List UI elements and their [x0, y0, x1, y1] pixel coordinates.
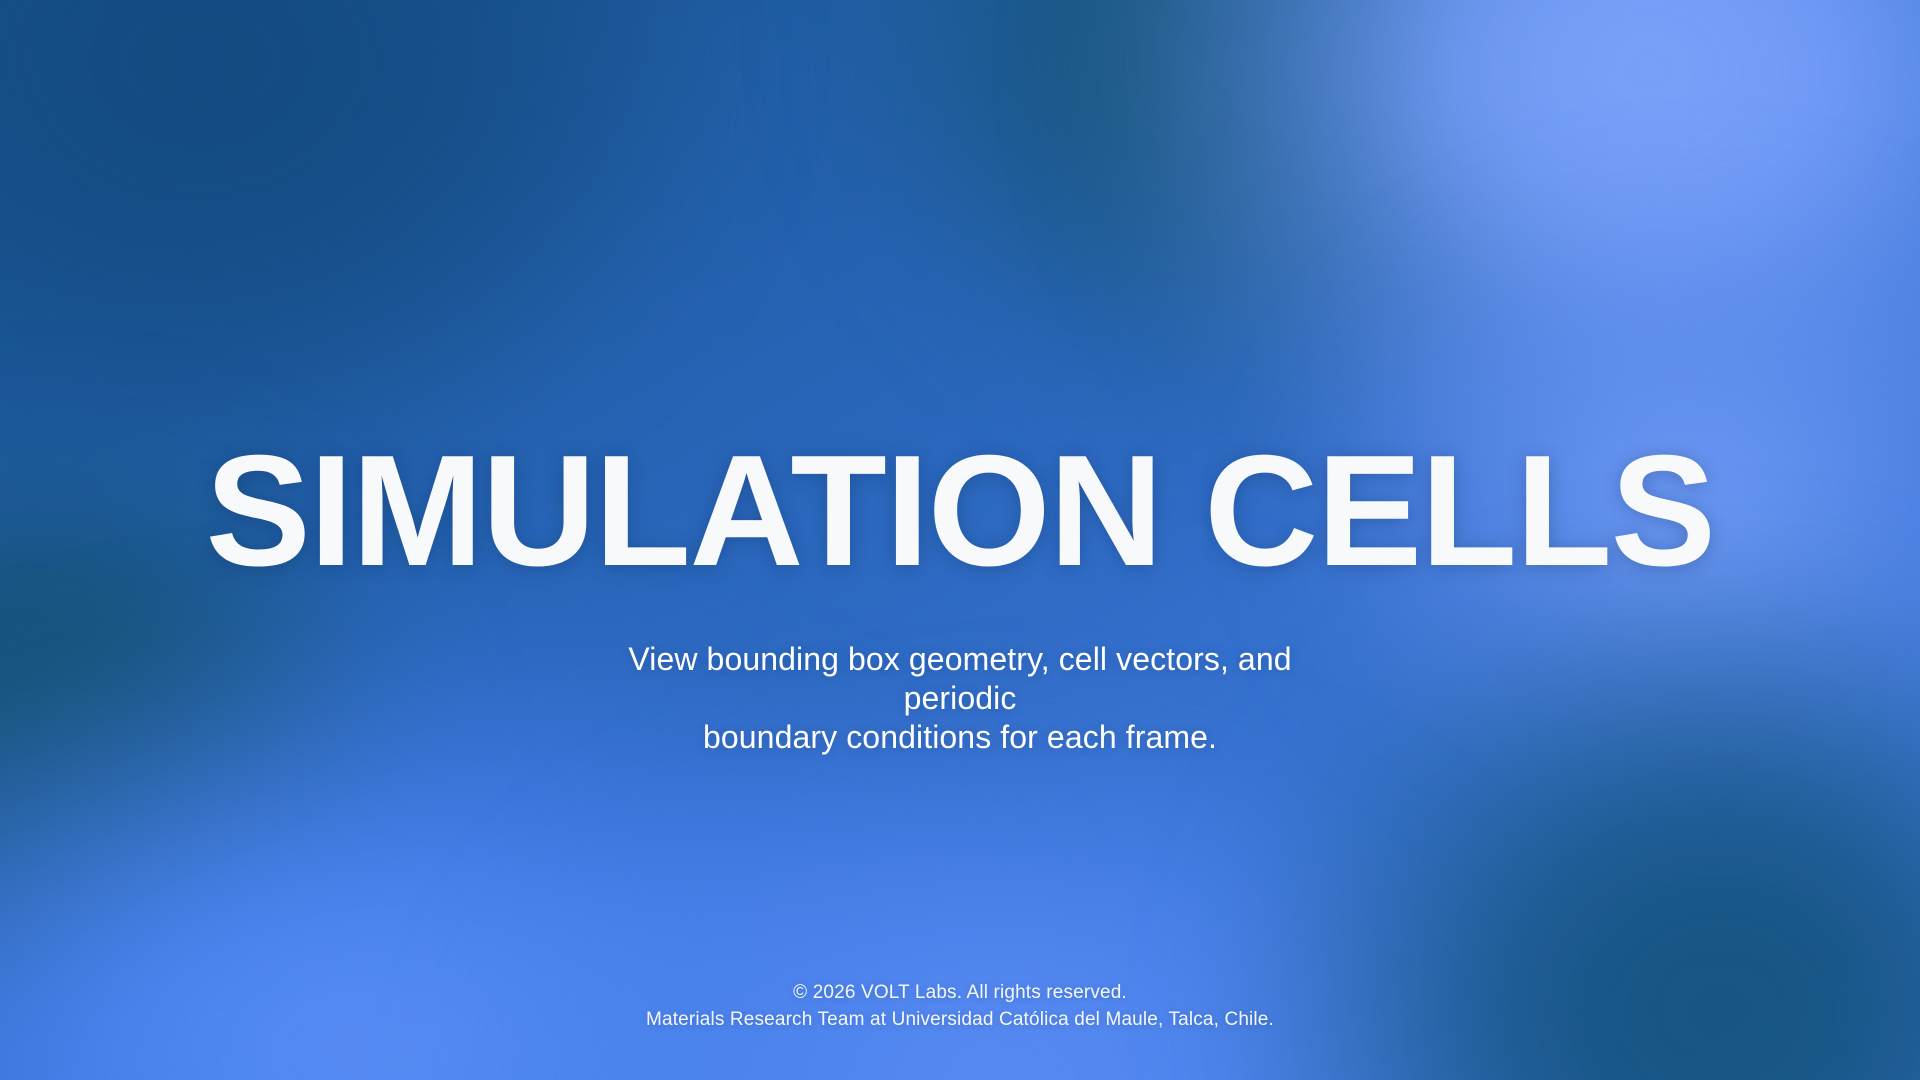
slide-content: SIMULATION CELLS View bounding box geome… [0, 0, 1920, 1080]
hero-block: SIMULATION CELLS View bounding box geome… [0, 432, 1920, 757]
page-subtitle: View bounding box geometry, cell vectors… [570, 640, 1350, 757]
page-subtitle-line-2: boundary conditions for each frame. [570, 718, 1350, 757]
page-title: SIMULATION CELLS [120, 432, 1800, 590]
footer-affiliation: Materials Research Team at Universidad C… [0, 1007, 1920, 1034]
slide-footer: © 2026 VOLT Labs. All rights reserved. M… [0, 980, 1920, 1034]
footer-copyright: © 2026 VOLT Labs. All rights reserved. [0, 980, 1920, 1007]
page-subtitle-line-1: View bounding box geometry, cell vectors… [570, 640, 1350, 718]
hero-slide: SIMULATION CELLS View bounding box geome… [0, 0, 1920, 1080]
